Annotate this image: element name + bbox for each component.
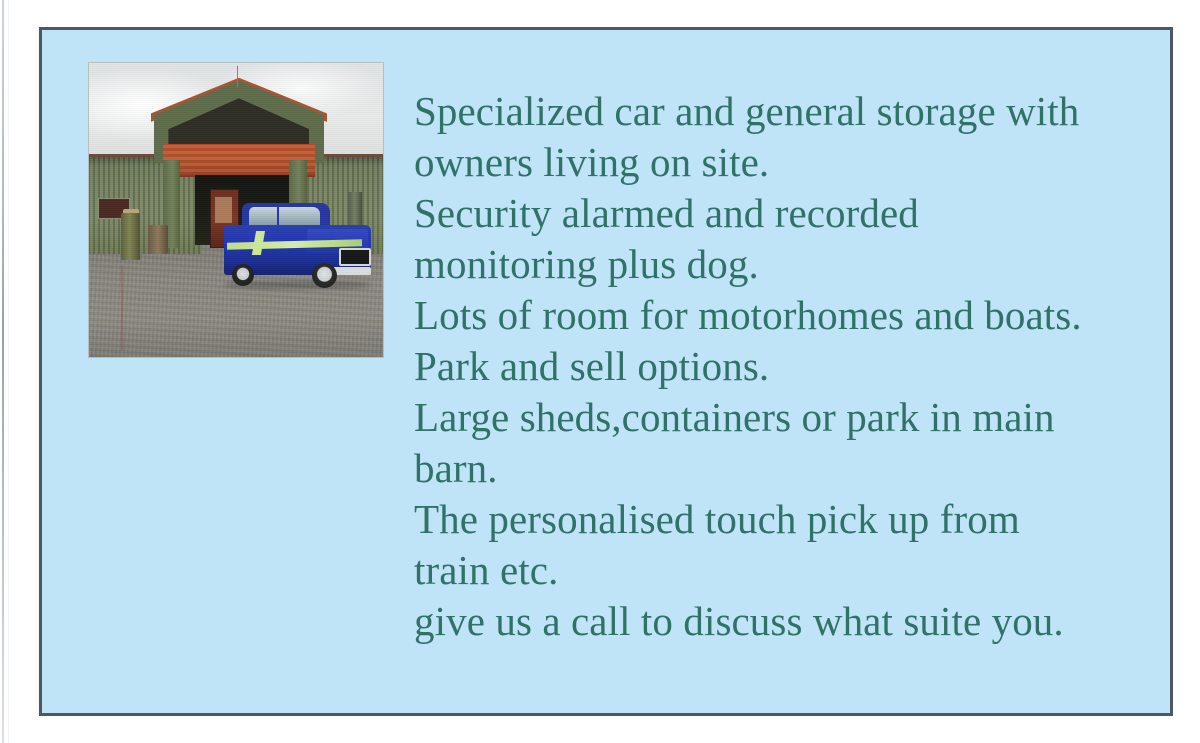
photo-roof-antenna [237, 66, 238, 87]
photo-truck-rear-wheel [232, 264, 254, 286]
advert-description-text: Specialized car and general storage with… [414, 86, 1149, 647]
copy-line: The personalised touch pick up from [414, 494, 1149, 545]
advert-inner: Specialized car and general storage with… [42, 30, 1170, 713]
copy-line: Security alarmed and recorded [414, 188, 1149, 239]
copy-line: Lots of room for motorhomes and boats. [414, 290, 1149, 341]
copy-line: monitoring plus dog. [414, 239, 1149, 290]
copy-line: train etc. [414, 545, 1149, 596]
photo-truck-grille [339, 248, 371, 266]
storage-barn-photo [88, 62, 384, 358]
page-gutter-rule [2, 0, 4, 743]
page-gutter-rule-secondary [8, 0, 9, 743]
copy-line: give us a call to discuss what suite you… [414, 596, 1149, 647]
photo-truck-bumper [333, 267, 371, 274]
copy-line: Large sheds,containers or park in main [414, 392, 1149, 443]
copy-line: Specialized car and general storage with [414, 86, 1149, 137]
photo-barrel [148, 225, 169, 254]
advert-panel: Specialized car and general storage with… [39, 27, 1173, 716]
copy-line: owners living on site. [414, 137, 1149, 188]
copy-line: Park and sell options. [414, 341, 1149, 392]
photo-scene [89, 63, 383, 357]
copy-line: barn. [414, 443, 1149, 494]
photo-green-tank [121, 213, 140, 260]
